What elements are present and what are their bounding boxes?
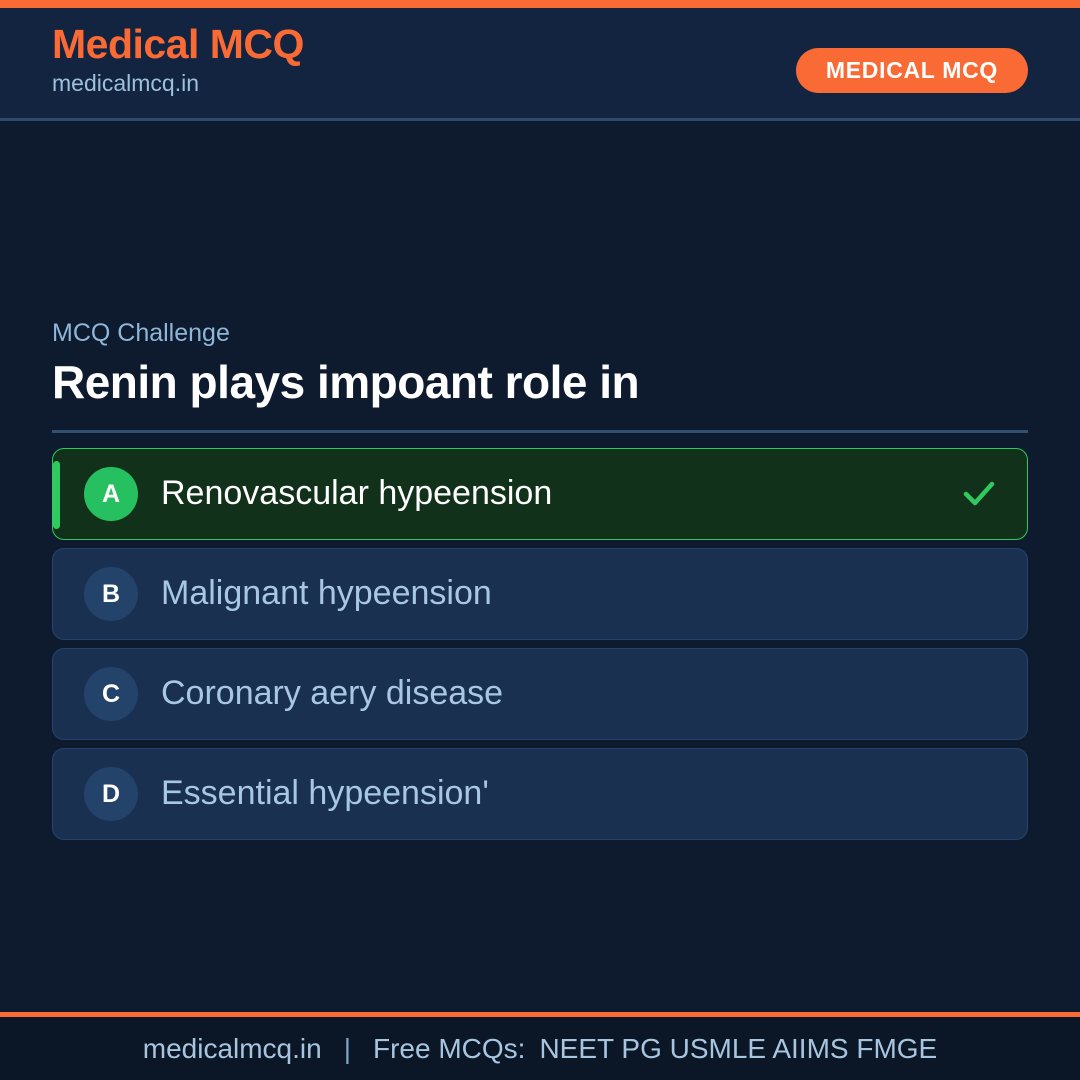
header-divider (0, 118, 1080, 121)
question-eyebrow: MCQ Challenge (52, 318, 1028, 348)
footer-content: medicalmcq.in | Free MCQs: NEET PG USMLE… (143, 1033, 938, 1065)
option-row-c[interactable]: C Coronary aery disease (52, 648, 1028, 740)
brand-block: Medical MCQ medicalmcq.in (52, 22, 304, 98)
brand-title: Medical MCQ (52, 22, 304, 67)
correct-accent-bar (53, 461, 60, 529)
header-badge-pill[interactable]: MEDICAL MCQ (796, 48, 1028, 93)
option-letter-badge-b: B (84, 567, 138, 621)
page-footer: medicalmcq.in | Free MCQs: NEET PG USMLE… (0, 1017, 1080, 1080)
option-text-a: Renovascular hypeension (161, 475, 552, 512)
header-badge-label: MEDICAL MCQ (826, 57, 998, 84)
question-divider (52, 430, 1028, 433)
option-text-d: Essential hypeension' (161, 775, 489, 812)
options-list: A Renovascular hypeension B Malignant hy… (52, 448, 1028, 848)
question-text: Renin plays impoant role in (52, 356, 1028, 409)
question-block: MCQ Challenge Renin plays impoant role i… (52, 318, 1028, 409)
option-text-c: Coronary aery disease (161, 675, 503, 712)
option-letter-badge-d: D (84, 767, 138, 821)
footer-site-link[interactable]: medicalmcq.in (143, 1033, 322, 1065)
option-row-b[interactable]: B Malignant hypeension (52, 548, 1028, 640)
accent-bar (53, 561, 60, 629)
footer-separator: | (336, 1033, 359, 1065)
option-row-d[interactable]: D Essential hypeension' (52, 748, 1028, 840)
option-text-b: Malignant hypeension (161, 575, 492, 612)
brand-subtitle: medicalmcq.in (52, 70, 304, 98)
footer-label: Free MCQs: (373, 1033, 525, 1065)
option-letter-badge-a: A (84, 467, 138, 521)
accent-bar (53, 661, 60, 729)
top-accent-strip (0, 0, 1080, 8)
option-letter-badge-c: C (84, 667, 138, 721)
option-row-a[interactable]: A Renovascular hypeension (52, 448, 1028, 540)
accent-bar (53, 761, 60, 829)
page-header: Medical MCQ medicalmcq.in MEDICAL MCQ (0, 8, 1080, 120)
check-icon (961, 476, 997, 512)
footer-exam-list: NEET PG USMLE AIIMS FMGE (539, 1033, 937, 1065)
